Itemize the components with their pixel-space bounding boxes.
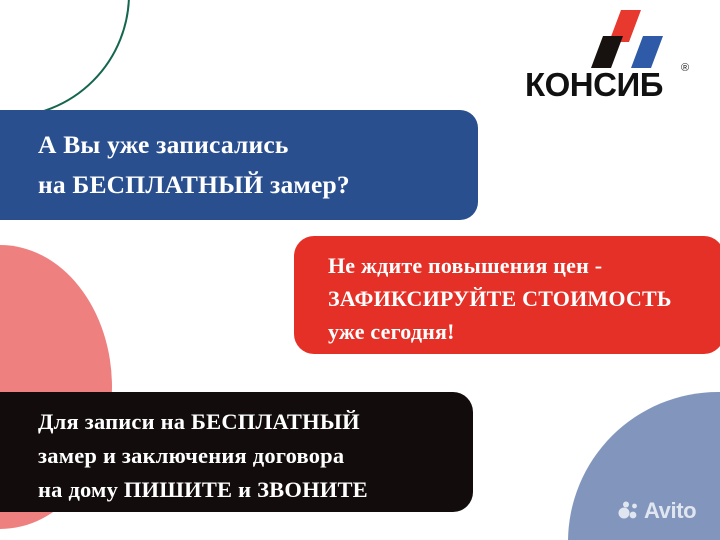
- avito-dots-icon: [618, 501, 640, 521]
- green-ring-decoration: [0, 0, 130, 118]
- promo-poster: КОНСИБ ® А Вы уже записались на БЕСПЛАТН…: [0, 0, 720, 540]
- brand-logo: КОНСИБ ®: [525, 8, 710, 108]
- urgency-banner-red: Не ждите повышения цен - ЗАФИКСИРУЙТЕ СТ…: [294, 236, 720, 354]
- avito-wordmark: Avito: [644, 500, 696, 522]
- headline-line-1: А Вы уже записались: [38, 125, 478, 165]
- avito-watermark: Avito: [618, 500, 696, 522]
- headline-banner-blue: А Вы уже записались на БЕСПЛАТНЫЙ замер?: [0, 110, 478, 220]
- brand-wordmark: КОНСИБ: [525, 68, 700, 101]
- cta-line-2: замер и заключения договора: [38, 439, 473, 473]
- urgency-line-2: ЗАФИКСИРУЙТЕ СТОИМОСТЬ: [328, 282, 720, 315]
- cta-line-1: Для записи на БЕСПЛАТНЫЙ: [38, 405, 473, 439]
- cta-banner-black: Для записи на БЕСПЛАТНЫЙ замер и заключе…: [0, 392, 473, 512]
- headline-line-2: на БЕСПЛАТНЫЙ замер?: [38, 165, 478, 205]
- urgency-line-1: Не ждите повышения цен -: [328, 249, 720, 282]
- konsib-logo-mark-icon: [591, 8, 676, 70]
- urgency-line-3: уже сегодня!: [328, 315, 720, 348]
- registered-trademark-icon: ®: [681, 62, 689, 74]
- cta-line-3: на дому ПИШИТЕ и ЗВОНИТЕ: [38, 473, 473, 507]
